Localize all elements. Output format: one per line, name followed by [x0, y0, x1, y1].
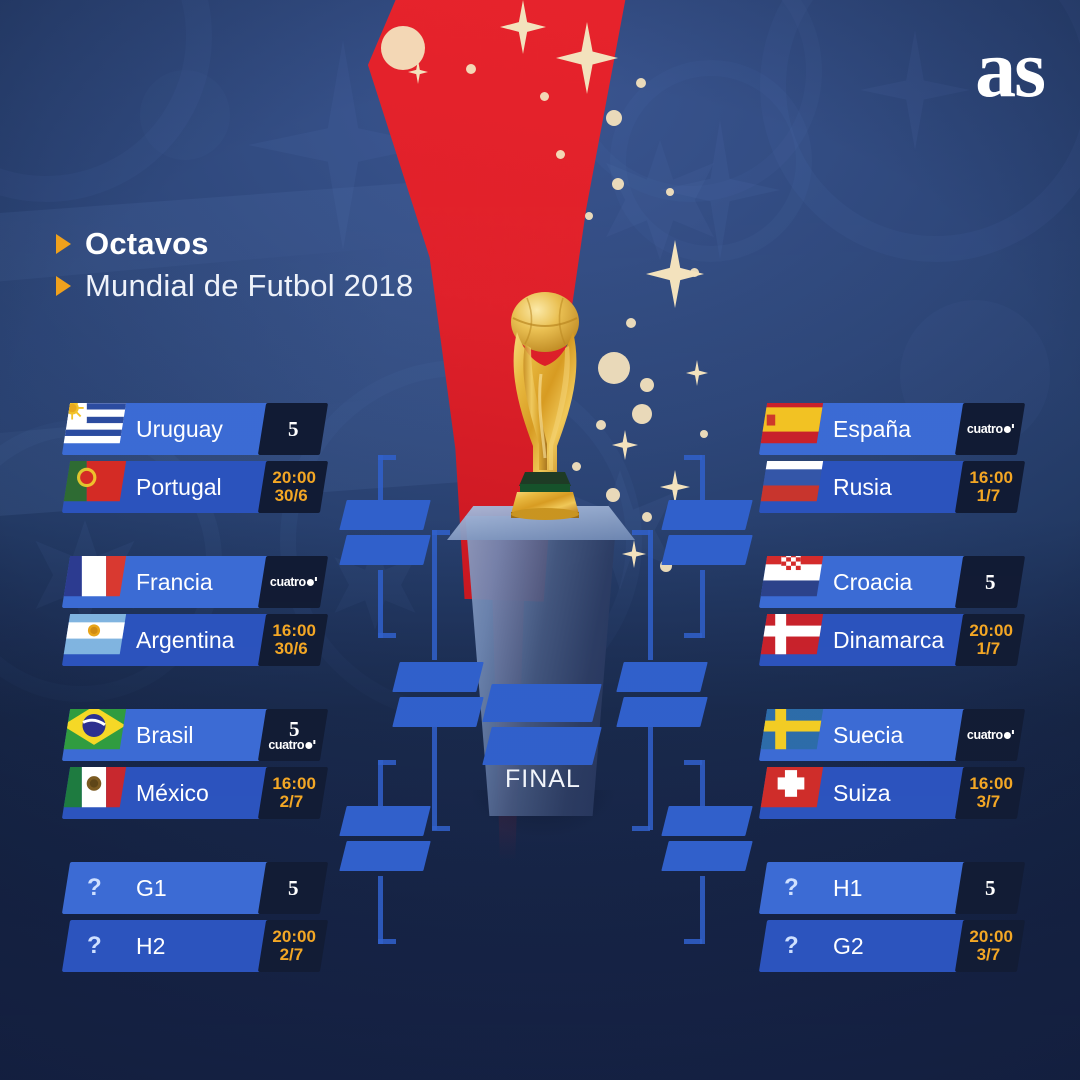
semifinal-slot-pair-left[interactable]: [396, 662, 480, 732]
match-row-home[interactable]: Suecia cuatro: [763, 709, 1021, 761]
flag-dinamarca-flag: [759, 614, 823, 666]
flag-brasil-flag: [62, 709, 126, 761]
unknown-team-placeholder: ?: [759, 920, 823, 972]
match-row-home[interactable]: Uruguay 5: [66, 403, 324, 455]
team-name: Brasil: [136, 709, 194, 761]
match-row-away[interactable]: México 16:00 2/7: [66, 767, 324, 819]
match-row-away[interactable]: ? H2 20:00 2/7: [66, 920, 324, 972]
triangle-right-icon: [56, 234, 71, 254]
kickoff-time: 20:00: [970, 622, 1013, 640]
kickoff-date: 2/7: [280, 793, 304, 811]
team-name: Uruguay: [136, 403, 223, 455]
team-name: H2: [136, 920, 165, 972]
bracket-line: [378, 455, 396, 460]
bracket-line: [378, 633, 396, 638]
kickoff-badge: 16:00 30/6: [258, 614, 328, 666]
bracket-slot[interactable]: [339, 841, 430, 871]
match-row-away[interactable]: ? G2 20:00 3/7: [763, 920, 1021, 972]
bracket-slot[interactable]: [392, 662, 483, 692]
bracket-slot[interactable]: [661, 500, 752, 530]
bracket-line: [378, 876, 383, 944]
bracket-line: [632, 826, 650, 831]
bracket-slot[interactable]: [661, 841, 752, 871]
channel-badge[interactable]: 5: [955, 556, 1025, 608]
match-row-home[interactable]: Croacia 5: [763, 556, 1021, 608]
confetti-dot: [642, 512, 652, 522]
confetti-dot: [556, 150, 565, 159]
header-line-2: Mundial de Futbol 2018: [56, 268, 413, 304]
bracket-line: [684, 455, 702, 460]
flag-mexico-flag: [62, 767, 126, 819]
channel-badge[interactable]: 5: [258, 403, 328, 455]
team-name: México: [136, 767, 209, 819]
channel-cuatro-logo: cuatro: [967, 423, 1014, 436]
kickoff-date: 1/7: [977, 487, 1001, 505]
match-card-brasil-mexico[interactable]: Brasil 5cuatro México 16:00 2/7: [66, 709, 324, 825]
bracket-line: [684, 760, 702, 765]
team-name: G1: [136, 862, 167, 914]
kickoff-badge: 20:00 30/6: [258, 461, 328, 513]
match-row-away[interactable]: Rusia 16:00 1/7: [763, 461, 1021, 513]
team-name: Croacia: [833, 556, 912, 608]
bracket-line: [432, 530, 450, 535]
final-slot-home[interactable]: [482, 684, 601, 722]
header-block: Octavos Mundial de Futbol 2018: [56, 226, 413, 310]
kickoff-date: 3/7: [977, 946, 1001, 964]
semifinal-slot-pair-right[interactable]: [620, 662, 704, 732]
page-subtitle: Mundial de Futbol 2018: [85, 268, 413, 304]
bracket-slot[interactable]: [339, 535, 430, 565]
kickoff-time: 16:00: [970, 775, 1013, 793]
kickoff-time: 20:00: [273, 469, 316, 487]
bracket-line: [432, 530, 437, 660]
kickoff-badge: 16:00 3/7: [955, 767, 1025, 819]
flag-francia-flag: [62, 556, 126, 608]
team-name: Francia: [136, 556, 213, 608]
header-line-1: Octavos: [56, 226, 413, 262]
channel-badge[interactable]: cuatro: [258, 556, 328, 608]
team-name: España: [833, 403, 911, 455]
kickoff-date: 2/7: [280, 946, 304, 964]
team-name: Rusia: [833, 461, 892, 513]
channel-badge[interactable]: cuatro: [955, 403, 1025, 455]
confetti-dot: [690, 268, 699, 277]
bracket-line: [378, 939, 396, 944]
channel-telecinco-logo: 5: [985, 572, 995, 592]
confetti-dot: [466, 64, 476, 74]
confetti-dot: [636, 78, 646, 88]
kickoff-time: 16:00: [273, 775, 316, 793]
confetti-dot: [626, 318, 636, 328]
kickoff-badge: 20:00 2/7: [258, 920, 328, 972]
quarterfinal-slot-pair-left-1[interactable]: [343, 500, 427, 570]
quarterfinal-slot-pair-right-2[interactable]: [665, 806, 749, 876]
match-card-croacia-dinamarca[interactable]: Croacia 5 Dinamarca 20:00 1/7: [763, 556, 1021, 672]
bracket-line: [632, 530, 650, 535]
kickoff-date: 1/7: [977, 640, 1001, 658]
channel-telecinco-logo: 5: [289, 719, 299, 739]
bracket-slot[interactable]: [339, 806, 430, 836]
kickoff-date: 30/6: [275, 640, 308, 658]
flag-portugal-flag: [62, 461, 126, 513]
confetti-dot: [606, 110, 622, 126]
channel-telecinco-logo: 5: [288, 878, 298, 898]
match-row-away[interactable]: Portugal 20:00 30/6: [66, 461, 324, 513]
kickoff-date: 3/7: [977, 793, 1001, 811]
channel-cuatro-logo: cuatro: [270, 576, 317, 589]
infographic-canvas: Octavos Mundial de Futbol 2018 as: [0, 0, 1080, 1080]
bracket-slot[interactable]: [661, 535, 752, 565]
triangle-right-icon: [56, 276, 71, 296]
team-name: Argentina: [136, 614, 234, 666]
as-logo[interactable]: as: [975, 28, 1044, 110]
confetti-dot: [640, 378, 654, 392]
confetti-dot: [381, 26, 425, 70]
kickoff-time: 20:00: [273, 928, 316, 946]
channel-badge[interactable]: 5: [955, 862, 1025, 914]
flag-suiza-flag: [759, 767, 823, 819]
channel-cuatro-logo: cuatro: [268, 739, 315, 752]
confetti-dot: [606, 488, 620, 502]
bracket-slot[interactable]: [392, 697, 483, 727]
flag-uruguay-flag: [62, 403, 126, 455]
bracket-line: [378, 570, 383, 638]
team-name: Suiza: [833, 767, 891, 819]
match-card-suecia-suiza[interactable]: Suecia cuatro Suiza 16:00 3/7: [763, 709, 1021, 825]
final-slot-pair[interactable]: [487, 684, 597, 770]
bracket-slot[interactable]: [339, 500, 430, 530]
match-row-away[interactable]: Suiza 16:00 3/7: [763, 767, 1021, 819]
bracket-line: [684, 939, 702, 944]
team-name: H1: [833, 862, 862, 914]
match-card-francia-argentina[interactable]: Francia cuatro Argentina 16:00 30/6: [66, 556, 324, 672]
world-cup-trophy-icon: [487, 288, 603, 520]
quarterfinal-slot-pair-right-1[interactable]: [665, 500, 749, 570]
kickoff-time: 16:00: [273, 622, 316, 640]
flag-suecia-flag: [759, 709, 823, 761]
kickoff-badge: 20:00 3/7: [955, 920, 1025, 972]
team-name: G2: [833, 920, 864, 972]
channel-badge[interactable]: 5cuatro: [258, 709, 328, 761]
match-row-home[interactable]: ? G1 5: [66, 862, 324, 914]
kickoff-time: 16:00: [970, 469, 1013, 487]
match-card-espana-rusia[interactable]: España cuatro Rusia 16:00 1/7: [763, 403, 1021, 519]
confetti-dot: [666, 188, 674, 196]
kickoff-date: 30/6: [275, 487, 308, 505]
channel-telecinco-logo: 5: [288, 419, 298, 439]
flag-argentina-flag: [62, 614, 126, 666]
kickoff-time: 20:00: [970, 928, 1013, 946]
page-title: Octavos: [85, 226, 209, 262]
kickoff-badge: 16:00 1/7: [955, 461, 1025, 513]
channel-badge[interactable]: 5: [258, 862, 328, 914]
bracket-line: [700, 876, 705, 944]
match-row-away[interactable]: Argentina 16:00 30/6: [66, 614, 324, 666]
match-card-uruguay-portugal[interactable]: Uruguay 5 Portugal 20:00 30/6: [66, 403, 324, 519]
match-card-g1-h2[interactable]: ? G1 5 ? H2 20:00 2/7: [66, 862, 324, 978]
match-card-h1-g2[interactable]: ? H1 5 ? G2 20:00 3/7: [763, 862, 1021, 978]
match-row-home[interactable]: Francia cuatro: [66, 556, 324, 608]
channel-telecinco-logo: 5: [985, 878, 995, 898]
unknown-team-placeholder: ?: [759, 862, 823, 914]
team-name: Dinamarca: [833, 614, 944, 666]
match-row-away[interactable]: Dinamarca 20:00 1/7: [763, 614, 1021, 666]
team-name: Suecia: [833, 709, 903, 761]
kickoff-badge: 20:00 1/7: [955, 614, 1025, 666]
team-name: Portugal: [136, 461, 222, 513]
bracket-slot[interactable]: [616, 662, 707, 692]
bracket-line: [684, 633, 702, 638]
bracket-line: [700, 570, 705, 638]
unknown-team-placeholder: ?: [62, 920, 126, 972]
match-row-home[interactable]: ? H1 5: [763, 862, 1021, 914]
final-label: FINAL: [505, 765, 581, 794]
match-row-home[interactable]: España cuatro: [763, 403, 1021, 455]
bracket-line: [378, 760, 396, 765]
confetti-dot: [585, 212, 593, 220]
final-slot-away[interactable]: [482, 727, 601, 765]
channel-badge[interactable]: cuatro: [955, 709, 1025, 761]
confetti-dot: [700, 430, 708, 438]
bracket-line: [648, 530, 653, 660]
bracket-slot[interactable]: [616, 697, 707, 727]
quarterfinal-slot-pair-left-2[interactable]: [343, 806, 427, 876]
match-row-home[interactable]: Brasil 5cuatro: [66, 709, 324, 761]
unknown-team-placeholder: ?: [62, 862, 126, 914]
flag-croacia-flag: [759, 556, 823, 608]
bracket-line: [432, 826, 450, 831]
confetti-dot: [612, 178, 624, 190]
confetti-dot: [540, 92, 549, 101]
bracket-slot[interactable]: [661, 806, 752, 836]
flag-espana-flag: [759, 403, 823, 455]
kickoff-badge: 16:00 2/7: [258, 767, 328, 819]
confetti-dot: [632, 404, 652, 424]
flag-rusia-flag: [759, 461, 823, 513]
channel-cuatro-logo: cuatro: [967, 729, 1014, 742]
